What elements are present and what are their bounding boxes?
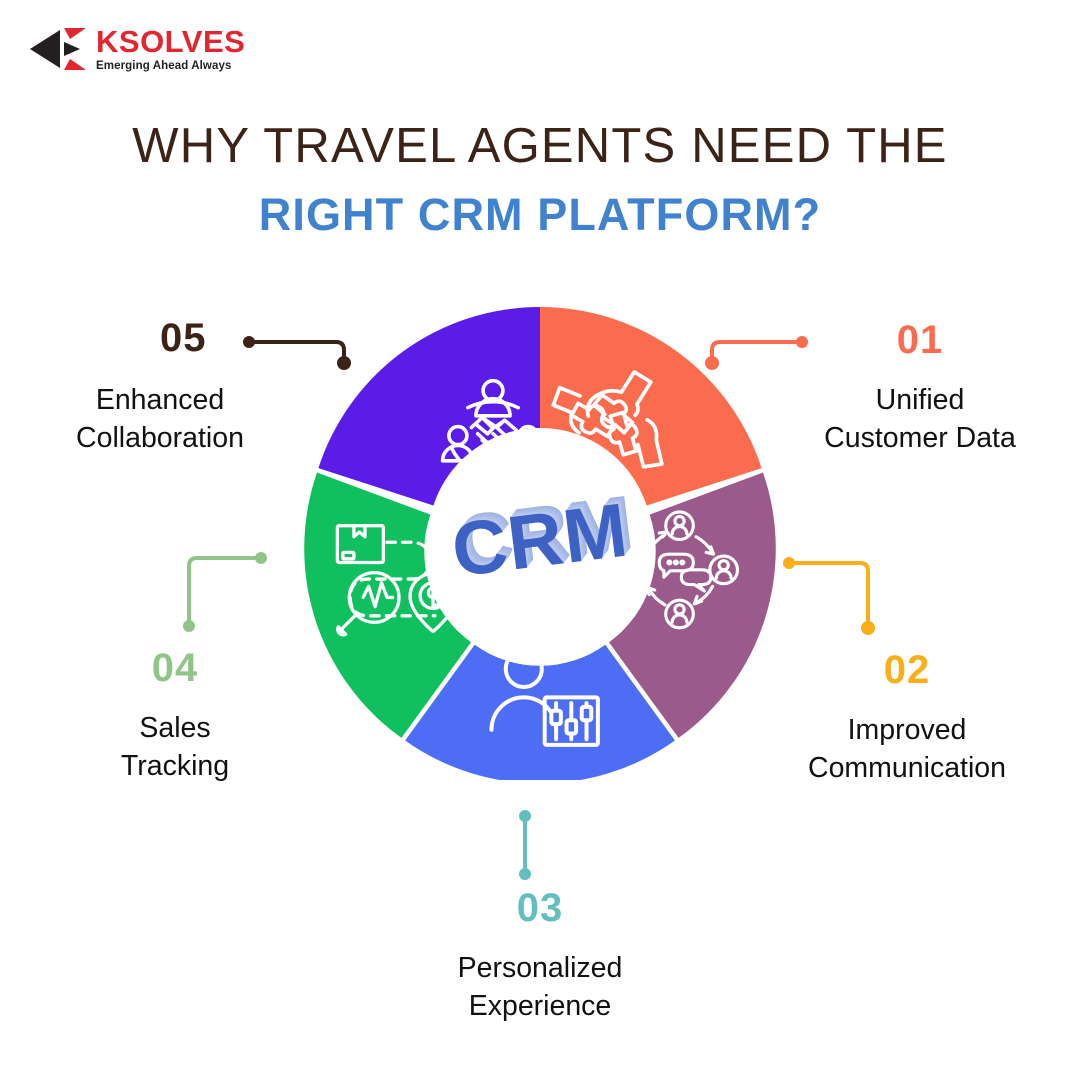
callout-04-label: Sales Tracking	[30, 710, 320, 785]
connector-03	[519, 810, 531, 880]
callout-03-label: Personalized Experience	[370, 950, 710, 1025]
callout-04-sales-tracking[interactable]: 04 Sales Tracking	[30, 648, 320, 785]
page-title: WHY TRAVEL AGENTS NEED THE RIGHT CRM PLA…	[0, 118, 1080, 242]
callout-03-number: 03	[370, 888, 710, 928]
callout-05-enhanced-collaboration[interactable]: 05 Enhanced Collaboration	[10, 318, 310, 457]
logo-tagline: Emerging Ahead Always	[96, 61, 245, 73]
callout-05-label: Enhanced Collaboration	[10, 382, 310, 457]
connector-02	[783, 557, 875, 635]
connector-04	[183, 552, 267, 632]
ksolves-logo-mark	[30, 26, 86, 72]
page-title-line-2: RIGHT CRM PLATFORM?	[0, 188, 1080, 242]
callout-04-number: 04	[30, 648, 320, 688]
logo-brand-name: KSOLVES	[96, 26, 245, 57]
callout-02-number: 02	[742, 650, 1072, 690]
brand-logo: KSOLVES Emerging Ahead Always	[30, 26, 245, 73]
callout-03-personalized-experience[interactable]: 03 Personalized Experience	[370, 888, 710, 1025]
donut-svg	[300, 300, 780, 780]
callout-01-unified-customer-data[interactable]: 01 Unified Customer Data	[760, 320, 1080, 457]
callout-02-improved-communication[interactable]: 02 Improved Communication	[742, 650, 1072, 787]
callout-01-label: Unified Customer Data	[760, 382, 1080, 457]
donut-center-hub	[428, 428, 652, 652]
callout-02-label: Improved Communication	[742, 712, 1072, 787]
page-title-line-1: WHY TRAVEL AGENTS NEED THE	[0, 118, 1080, 176]
crm-donut-chart: CRM	[300, 300, 780, 780]
logo-text-group: KSOLVES Emerging Ahead Always	[96, 26, 245, 73]
callout-01-number: 01	[760, 320, 1080, 360]
callout-05-number: 05	[10, 318, 310, 358]
